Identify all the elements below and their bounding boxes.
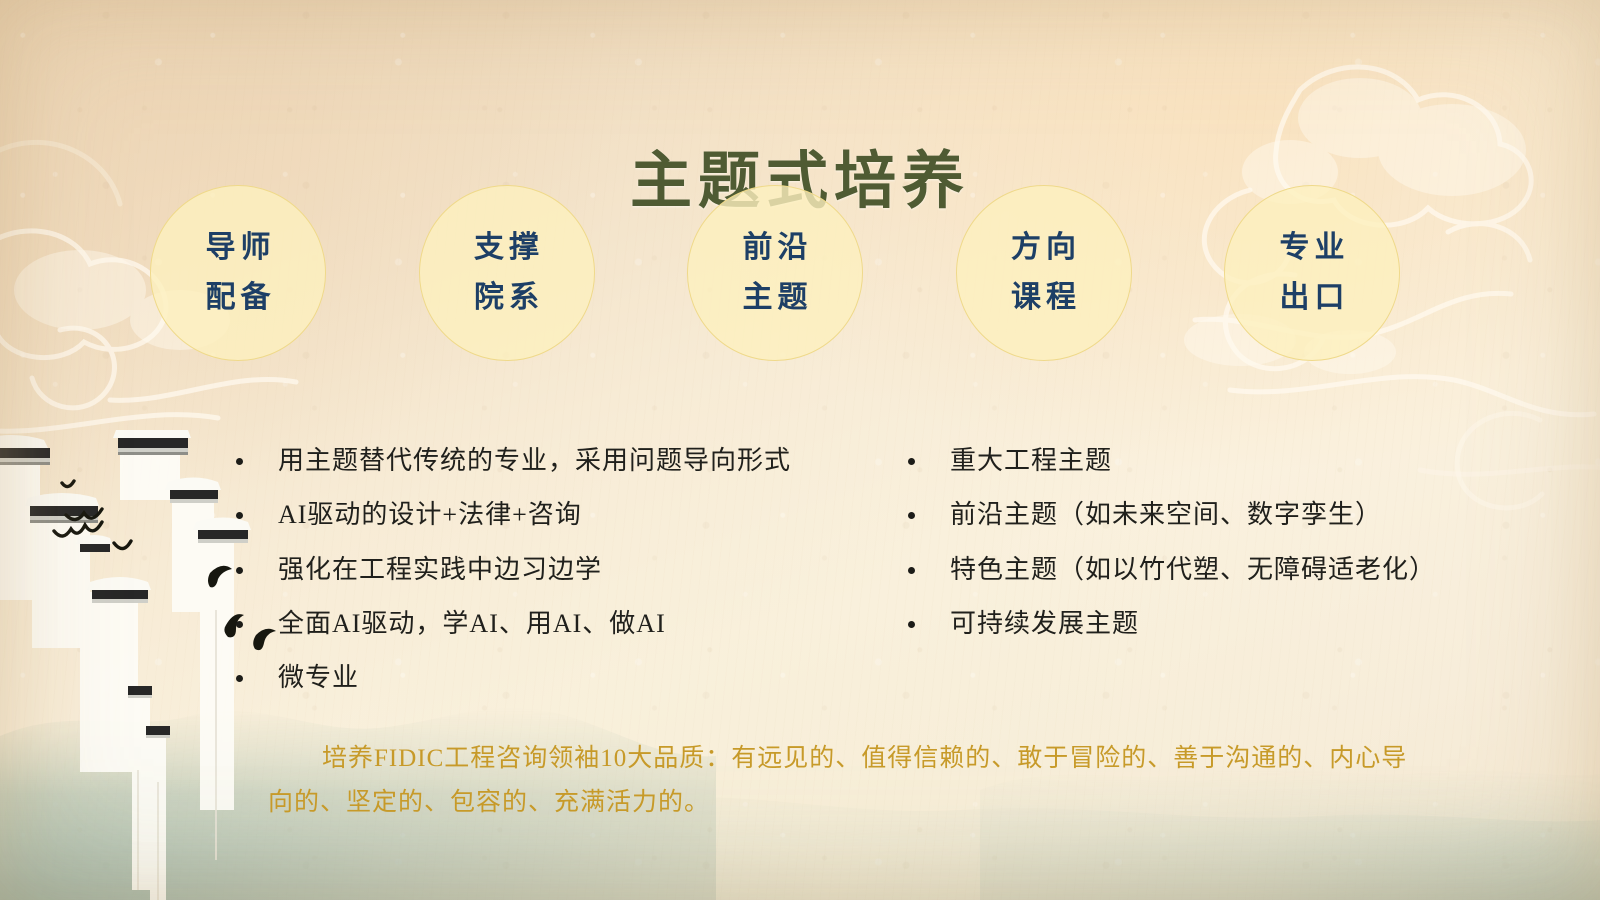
pillar-circle-5[interactable]: 专业 出口 [1224, 185, 1400, 361]
bullet-dot-icon [908, 512, 915, 519]
content-columns: 用主题替代传统的专业，采用问题导向形式 AI驱动的设计+法律+咨询 强化在工程实… [0, 444, 1600, 716]
list-item: 重大工程主题 [900, 444, 1500, 478]
list-item: 用主题替代传统的专业，采用问题导向形式 [228, 444, 888, 478]
bullet-dot-icon [908, 621, 915, 628]
pillar-circle-1[interactable]: 导师 配备 [150, 185, 326, 361]
bullet-dot-icon [236, 675, 243, 682]
list-item-label: 前沿主题（如未来空间、数字孪生） [950, 500, 1382, 529]
list-item: 特色主题（如以竹代塑、无障碍适老化） [900, 553, 1500, 587]
pillar-circle-2-line2: 院系 [469, 283, 544, 313]
footnote-paragraph: 培养FIDIC工程咨询领袖10大品质：有远见的、值得信赖的、敢于冒险的、善于沟通… [268, 737, 1428, 825]
pillar-circle-4[interactable]: 方向 课程 [956, 185, 1132, 361]
list-item: 可持续发展主题 [900, 607, 1500, 641]
list-item: 全面AI驱动，学AI、用AI、做AI [228, 607, 888, 641]
bullet-dot-icon [908, 567, 915, 574]
bullet-dot-icon [236, 512, 243, 519]
list-item-label: 可持续发展主题 [950, 609, 1139, 638]
list-item: AI驱动的设计+法律+咨询 [228, 498, 888, 532]
pillar-circle-2-line1: 支撑 [469, 233, 544, 263]
right-bullet-list: 重大工程主题 前沿主题（如未来空间、数字孪生） 特色主题（如以竹代塑、无障碍适老… [900, 444, 1500, 641]
list-item-label: AI驱动的设计+法律+咨询 [278, 500, 582, 529]
pillar-circle-1-line1: 导师 [201, 233, 276, 263]
pillar-circle-1-line2: 配备 [201, 283, 276, 313]
list-item-label: 微专业 [278, 663, 359, 692]
bullet-dot-icon [236, 621, 243, 628]
pillar-circle-5-line1: 专业 [1275, 233, 1350, 263]
left-column: 用主题替代传统的专业，采用问题导向形式 AI驱动的设计+法律+咨询 强化在工程实… [228, 444, 888, 716]
list-item-label: 全面AI驱动，学AI、用AI、做AI [278, 609, 666, 638]
bullet-dot-icon [908, 458, 915, 465]
list-item: 强化在工程实践中边习边学 [228, 553, 888, 587]
bullet-dot-icon [236, 458, 243, 465]
list-item-label: 特色主题（如以竹代塑、无障碍适老化） [950, 555, 1436, 584]
pillar-circle-3-line2: 主题 [738, 283, 813, 313]
list-item: 微专业 [228, 661, 888, 695]
right-column: 重大工程主题 前沿主题（如未来空间、数字孪生） 特色主题（如以竹代塑、无障碍适老… [900, 444, 1500, 716]
list-item-label: 用主题替代传统的专业，采用问题导向形式 [278, 446, 791, 475]
pillar-circle-2[interactable]: 支撑 院系 [419, 185, 595, 361]
slide-canvas: 主题式培养 导师 配备 支撑 院系 前沿 主题 方向 课程 专业 出口 [0, 0, 1600, 900]
list-item-label: 强化在工程实践中边习边学 [278, 555, 602, 584]
pillar-circle-3[interactable]: 前沿 主题 [687, 185, 863, 361]
list-item: 前沿主题（如未来空间、数字孪生） [900, 498, 1500, 532]
pillar-circle-4-line2: 课程 [1006, 283, 1081, 313]
left-bullet-list: 用主题替代传统的专业，采用问题导向形式 AI驱动的设计+法律+咨询 强化在工程实… [228, 444, 888, 696]
bullet-dot-icon [236, 567, 243, 574]
pillar-circle-4-line1: 方向 [1006, 233, 1081, 263]
list-item-label: 重大工程主题 [950, 446, 1112, 475]
pillar-circle-3-line1: 前沿 [738, 233, 813, 263]
pillar-circle-row: 导师 配备 支撑 院系 前沿 主题 方向 课程 专业 出口 [150, 185, 1400, 361]
pillar-circle-5-line2: 出口 [1275, 283, 1350, 313]
